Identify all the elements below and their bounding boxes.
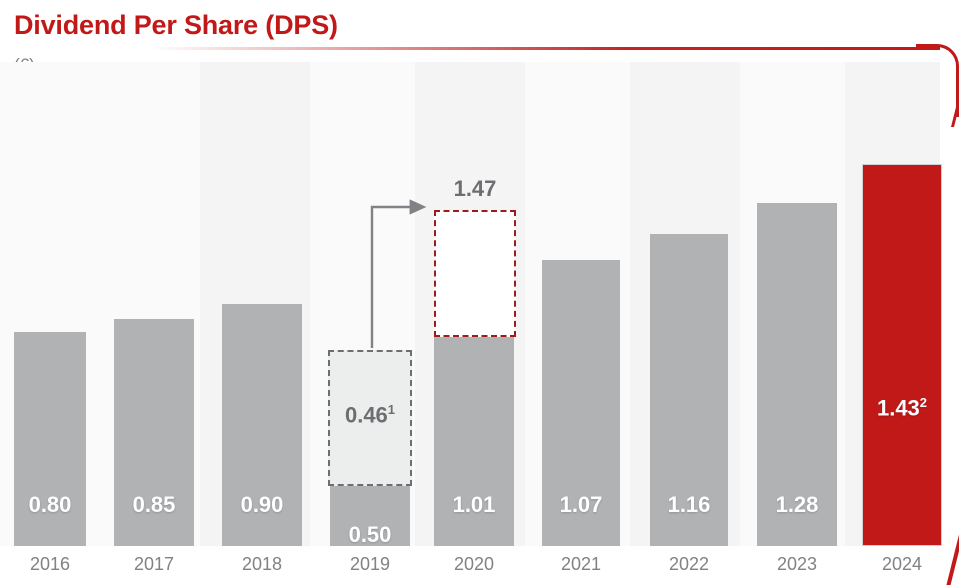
bar-value-label-2020: 1.01 [434, 492, 514, 518]
ghost-value: 0.46 [345, 402, 388, 427]
bar-value-label-2016: 0.80 [14, 492, 86, 518]
dashed-gray-segment-label: 0.461 [328, 402, 412, 428]
x-tick-2018: 2018 [222, 554, 302, 575]
x-tick-2016: 2016 [14, 554, 86, 575]
bar-value-label-2022: 1.16 [650, 492, 728, 518]
bar-2024[interactable] [862, 164, 942, 546]
x-axis-labels: 201620172018201920202021202220232024 [0, 548, 959, 584]
bar-value-label-2019: 0.50 [330, 522, 410, 548]
dashed-red-proforma-box-2020 [434, 210, 516, 337]
bar-value-label-2018: 0.90 [222, 492, 302, 518]
page-title: Dividend Per Share (DPS) [14, 10, 338, 41]
top-frame-line [150, 47, 940, 50]
bar-value-label-2024: 1.432 [862, 395, 942, 421]
x-tick-2017: 2017 [114, 554, 194, 575]
dps-chart-slide: Dividend Per Share (DPS) (€) 0.800.850.9… [0, 0, 959, 585]
bar-value-label-2017: 0.85 [114, 492, 194, 518]
plot-area: 0.800.850.900.501.011.071.161.281.432 0.… [0, 62, 959, 546]
proforma-value-label: 1.47 [434, 176, 516, 202]
x-tick-2023: 2023 [757, 554, 837, 575]
x-tick-2020: 2020 [434, 554, 514, 575]
x-tick-2022: 2022 [650, 554, 728, 575]
x-tick-2021: 2021 [542, 554, 620, 575]
bar-value-label-2023: 1.28 [757, 492, 837, 518]
ghost-footnote-marker: 1 [388, 402, 395, 417]
x-tick-2019: 2019 [330, 554, 410, 575]
bar-value-label-2021: 1.07 [542, 492, 620, 518]
x-tick-2024: 2024 [862, 554, 942, 575]
